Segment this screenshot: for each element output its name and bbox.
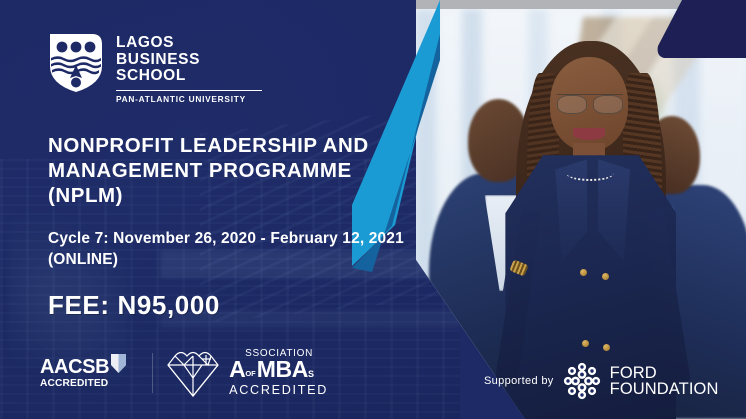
amba-status: ACCREDITED — [229, 383, 328, 397]
logo-line-2: BUSINESS — [116, 52, 262, 69]
photo-image — [416, 9, 746, 419]
sponsor-block: Supported by FORD FOUNDATION — [484, 362, 719, 400]
pearl-necklace — [566, 165, 614, 181]
logo-subtitle: PAN-ATLANTIC UNIVERSITY — [116, 94, 262, 104]
amba-letter-a: A — [229, 359, 245, 379]
ford-foundation-circles-icon — [563, 362, 601, 400]
lbs-logo-wordmark: LAGOS BUSINESS SCHOOL PAN-ATLANTIC UNIVE… — [116, 32, 262, 104]
cycle-line-1: Cycle 7: November 26, 2020 - February 12… — [48, 228, 468, 249]
aacsb-accreditation-logo: AACSB ACCREDITED — [40, 357, 140, 389]
amba-accreditation-logo: SSOCIATION A OF MBA S ACCREDITED — [165, 348, 328, 398]
top-right-navy-wedge — [636, 0, 746, 58]
amba-line-mba: A OF MBA S — [229, 359, 328, 384]
blazer-button — [602, 273, 609, 280]
aacsb-name: AACSB — [40, 357, 109, 377]
aacsb-status: ACCREDITED — [40, 378, 126, 389]
logo-divider-rule — [116, 90, 262, 92]
lagos-business-school-shield-icon — [48, 32, 104, 94]
fee-label: FEE: N95,000 — [48, 290, 220, 321]
amba-of: OF — [245, 364, 255, 384]
amba-mba: MBA — [257, 359, 308, 379]
headline-line-1: NONPROFIT LEADERSHIP AND — [48, 133, 418, 158]
eyeglasses-icon — [557, 94, 623, 112]
aacsb-name-row: AACSB — [40, 357, 126, 377]
logo-line-3: SCHOOL — [116, 68, 262, 85]
headline-line-3: (NPLM) — [48, 183, 418, 208]
sponsor-name: FORD FOUNDATION — [610, 365, 719, 397]
promotional-poster: LAGOS BUSINESS SCHOOL PAN-ATLANTIC UNIVE… — [0, 0, 746, 419]
amba-diamond-icon — [165, 348, 221, 398]
logo-line-1: LAGOS — [116, 35, 262, 52]
headline-line-2: MANAGEMENT PROGRAMME — [48, 158, 418, 183]
lbs-logo-lockup: LAGOS BUSINESS SCHOOL PAN-ATLANTIC UNIVE… — [48, 32, 262, 104]
amba-wordmark: SSOCIATION A OF MBA S ACCREDITED — [229, 349, 328, 397]
programme-cycle-dates: Cycle 7: November 26, 2020 - February 12… — [48, 228, 468, 270]
smile — [573, 128, 605, 140]
accreditation-divider — [152, 353, 153, 393]
sponsor-name-line-2: FOUNDATION — [610, 381, 719, 397]
sponsor-prefix: Supported by — [484, 375, 554, 387]
aacsb-flag-icon — [111, 354, 126, 373]
woman-foreground — [502, 25, 680, 419]
cycle-line-2: (ONLINE) — [48, 249, 468, 270]
sponsor-name-line-1: FORD — [610, 365, 719, 381]
accreditation-logos: AACSB ACCREDITED — [40, 348, 328, 398]
business-professionals-photo — [416, 0, 746, 419]
amba-plural-s: S — [308, 364, 314, 384]
poster-content: LAGOS BUSINESS SCHOOL PAN-ATLANTIC UNIVE… — [0, 0, 460, 419]
page-title: NONPROFIT LEADERSHIP AND MANAGEMENT PROG… — [48, 133, 418, 208]
